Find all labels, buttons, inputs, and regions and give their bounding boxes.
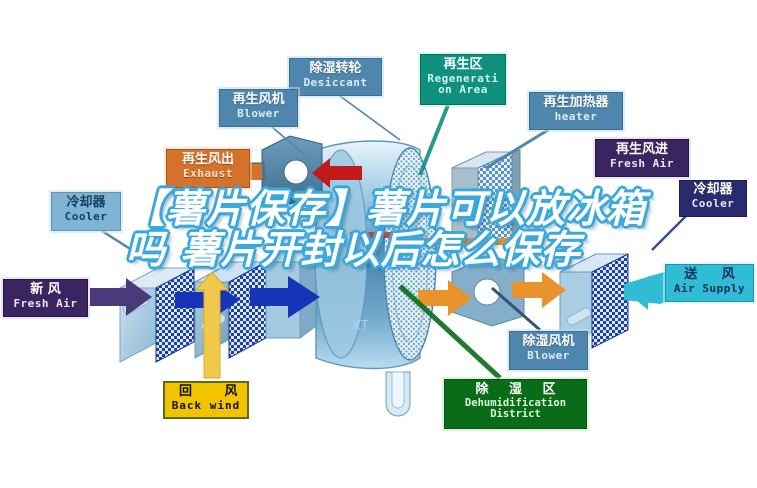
label-cn: 再生风出 — [167, 153, 249, 168]
label-en: Fresh Air — [4, 298, 87, 310]
label-cn: 冷却器 — [680, 183, 746, 198]
svg-text:XT: XT — [352, 319, 369, 334]
label-en: Cooler — [52, 211, 120, 223]
hot-floor-strip — [404, 238, 534, 245]
label-cn: 回 风 — [165, 385, 247, 400]
label-fresh-air-regen: 再生风进 Fresh Air — [595, 139, 689, 177]
label-en: Dehumidification District — [445, 398, 586, 420]
regeneration-blower-body — [262, 136, 322, 204]
label-cn: 送 风 — [666, 268, 753, 283]
label-cn: 再生区 — [421, 58, 505, 73]
label-air-supply: 送 风 Air Supply — [665, 264, 754, 302]
label-en: Back wind — [165, 400, 247, 412]
label-cn: 再生风机 — [220, 93, 297, 108]
post-cooler-coil-regen — [512, 150, 520, 238]
label-back-wind: 回 风 Back wind — [163, 381, 249, 419]
label-cn: 除 湿 区 — [445, 383, 586, 398]
label-en: Exhaust — [167, 168, 249, 180]
label-regeneration-area: 再生区 Regenerati on Area — [420, 54, 506, 105]
label-fresh-air-left: 新 风 Fresh Air — [3, 279, 88, 317]
label-cooler-right: 冷却器 Cooler — [679, 180, 747, 217]
label-en: Blower — [510, 350, 587, 362]
label-en: Fresh Air — [596, 158, 688, 170]
label-cn: 再生加热器 — [530, 96, 622, 111]
label-regeneration-heater: 再生加热器 heater — [529, 92, 623, 130]
label-dehumidify-blower: 除湿风机 Blower — [509, 331, 588, 370]
label-en: heater — [530, 111, 622, 123]
label-en: Regenerati on Area — [421, 73, 505, 96]
diagram-canvas: XT — [0, 0, 757, 488]
desiccant-rotor: XT — [315, 141, 436, 416]
label-desiccant-wheel: 除湿转轮 Desiccant — [289, 58, 382, 96]
label-cn: 再生风进 — [596, 143, 688, 158]
regen-seal-strip — [350, 232, 410, 238]
label-exhaust: 再生风出 Exhaust — [166, 149, 250, 188]
label-cn: 除湿转轮 — [290, 62, 381, 77]
label-dehumidification-district: 除 湿 区 Dehumidification District — [444, 379, 587, 429]
label-en: Blower — [220, 108, 297, 120]
label-cn: 新 风 — [4, 283, 87, 298]
label-en: Air Supply — [666, 283, 753, 295]
heater-mesh — [478, 152, 512, 250]
label-cooler-left: 冷却器 Cooler — [51, 192, 121, 231]
label-cn: 除湿风机 — [510, 335, 587, 350]
label-en: Desiccant — [290, 77, 381, 89]
label-cn: 冷却器 — [52, 196, 120, 211]
label-en: Cooler — [680, 198, 746, 210]
label-regeneration-blower: 再生风机 Blower — [219, 89, 298, 127]
